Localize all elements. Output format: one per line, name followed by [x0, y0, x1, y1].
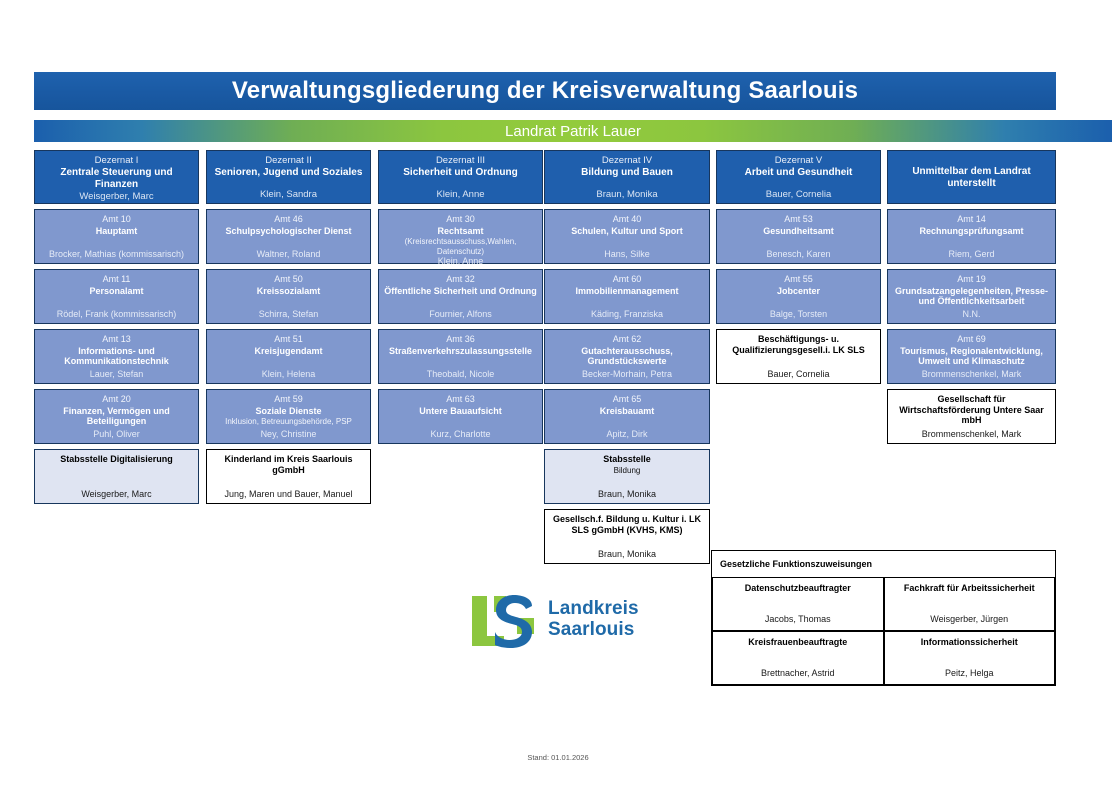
dezernat-title: Senioren, Jugend und Soziales: [210, 167, 367, 179]
dezernat-header-card[interactable]: Unmittelbar dem Landrat unterstellt: [887, 150, 1056, 204]
funktionszuweisung-person: Weisgerber, Jürgen: [930, 614, 1008, 624]
amt-title: Immobilienmanagement: [548, 286, 706, 297]
dezernat-header-card[interactable]: Dezernat IISenioren, Jugend und Soziales…: [206, 150, 371, 204]
org-chart-page: Verwaltungsgliederung der Kreisverwaltun…: [0, 0, 1116, 789]
amt-person: Apitz, Dirk: [548, 429, 706, 440]
logo-text-line2: Saarlouis: [548, 619, 639, 640]
amt-person: Fournier, Alfons: [382, 309, 539, 320]
dezernat-person: Weisgerber, Marc: [38, 191, 195, 202]
amt-title: Untere Bauaufsicht: [382, 406, 539, 417]
amt-number: Amt 50: [210, 274, 367, 285]
amt-number: Amt 11: [38, 274, 195, 285]
amt-card[interactable]: Amt 11PersonalamtRödel, Frank (kommissar…: [34, 269, 199, 324]
landrat-banner: Landrat Patrik Lauer: [34, 120, 1112, 142]
amt-person: Braun, Monika: [548, 549, 706, 560]
org-unit-card[interactable]: Gesellschaft für Wirtschaftsförderung Un…: [887, 389, 1056, 444]
dezernat-person: Braun, Monika: [548, 189, 706, 200]
org-unit-card[interactable]: StabsstelleBildungBraun, Monika: [544, 449, 710, 504]
dezernat-column-2: Dezernat IISenioren, Jugend und Soziales…: [206, 150, 371, 509]
amt-title: Schulen, Kultur und Sport: [548, 226, 706, 237]
dezernat-header-card[interactable]: Dezernat IZentrale Steuerung und Finanze…: [34, 150, 199, 204]
amt-number: Amt 69: [891, 334, 1052, 345]
dezernat-number: Dezernat II: [210, 155, 367, 166]
amt-person: Klein, Helena: [210, 369, 367, 380]
amt-card[interactable]: Amt 53GesundheitsamtBenesch, Karen: [716, 209, 881, 264]
amt-card[interactable]: Amt 55JobcenterBalge, Torsten: [716, 269, 881, 324]
amt-person: Schirra, Stefan: [210, 309, 367, 320]
logo-text-line1: Landkreis: [548, 598, 639, 619]
amt-number: Amt 10: [38, 214, 195, 225]
funktionszuweisung-role: Fachkraft für Arbeitssicherheit: [904, 583, 1035, 593]
amt-number: Amt 60: [548, 274, 706, 285]
amt-number: Amt 20: [38, 394, 195, 405]
funktionszuweisung-row: KreisfrauenbeauftragteBrettnacher, Astri…: [712, 631, 1055, 685]
dezernat-column-5: Dezernat VArbeit und GesundheitBauer, Co…: [716, 150, 881, 389]
dezernat-header-card[interactable]: Dezernat IVBildung und BauenBraun, Monik…: [544, 150, 710, 204]
amt-person: Käding, Franziska: [548, 309, 706, 320]
amt-card[interactable]: Amt 10HauptamtBrocker, Mathias (kommissa…: [34, 209, 199, 264]
amt-person: Jung, Maren und Bauer, Manuel: [210, 489, 367, 500]
amt-title: Soziale Dienste: [210, 406, 367, 417]
amt-person: Kurz, Charlotte: [382, 429, 539, 440]
amt-card[interactable]: Amt 14RechnungsprüfungsamtRiem, Gerd: [887, 209, 1056, 264]
dezernat-column-1: Dezernat IZentrale Steuerung und Finanze…: [34, 150, 199, 509]
amt-title: Hauptamt: [38, 226, 195, 237]
amt-title: Kinderland im Kreis Saarlouis gGmbH: [210, 454, 367, 475]
amt-person: Brocker, Mathias (kommissarisch): [38, 249, 195, 260]
page-title: Verwaltungsgliederung der Kreisverwaltun…: [34, 72, 1056, 110]
amt-card[interactable]: Amt 65KreisbauamtApitz, Dirk: [544, 389, 710, 444]
amt-card[interactable]: Amt 62Gutachterausschuss, Grundstückswer…: [544, 329, 710, 384]
amt-title: Kreisjugendamt: [210, 346, 367, 357]
dezernat-person: Klein, Anne: [382, 189, 539, 200]
dezernat-header-card[interactable]: Dezernat IIISicherheit und OrdnungKlein,…: [378, 150, 543, 204]
amt-person: Brommenschenkel, Mark: [891, 429, 1052, 440]
amt-person: Braun, Monika: [548, 489, 706, 500]
amt-number: Amt 62: [548, 334, 706, 345]
amt-person: Hans, Silke: [548, 249, 706, 260]
funktionszuweisungen-table: Gesetzliche Funktionszuweisungen Datensc…: [711, 550, 1056, 686]
dezernat-title: Sicherheit und Ordnung: [382, 167, 539, 179]
amt-number: Amt 30: [382, 214, 539, 225]
amt-card[interactable]: Amt 13Informations- und Kommunikationste…: [34, 329, 199, 384]
funktionszuweisung-person: Brettnacher, Astrid: [761, 668, 835, 678]
amt-card[interactable]: Amt 20Finanzen, Vermögen und Beteiligung…: [34, 389, 199, 444]
amt-person: Weisgerber, Marc: [38, 489, 195, 500]
amt-title: Personalamt: [38, 286, 195, 297]
amt-title: Rechtsamt: [382, 226, 539, 237]
amt-title: Gesundheitsamt: [720, 226, 877, 237]
dezernat-number: Dezernat IV: [548, 155, 706, 166]
amt-number: Amt 53: [720, 214, 877, 225]
amt-person: Brommenschenkel, Mark: [891, 369, 1052, 380]
amt-title: Gesellschaft für Wirtschaftsförderung Un…: [891, 394, 1052, 426]
amt-person: Bauer, Cornelia: [720, 369, 877, 380]
amt-number: Amt 63: [382, 394, 539, 405]
dezernat-header-card[interactable]: Dezernat VArbeit und GesundheitBauer, Co…: [716, 150, 881, 204]
funktionszuweisung-role: Informationssicherheit: [921, 637, 1018, 647]
dezernat-person: Bauer, Cornelia: [720, 189, 877, 200]
amt-person: Ney, Christine: [210, 429, 367, 440]
amt-person: Balge, Torsten: [720, 309, 877, 320]
amt-title: Beschäftigungs- u. Qualifizierungsgesell…: [720, 334, 877, 355]
dezernat-person: Klein, Sandra: [210, 189, 367, 200]
amt-number: Amt 59: [210, 394, 367, 405]
dezernat-column-6: Unmittelbar dem Landrat unterstelltAmt 1…: [887, 150, 1056, 449]
amt-person: Waltner, Roland: [210, 249, 367, 260]
amt-person: Theobald, Nicole: [382, 369, 539, 380]
dezernat-column-4: Dezernat IVBildung und BauenBraun, Monik…: [544, 150, 710, 569]
amt-card[interactable]: Amt 36StraßenverkehrszulassungsstelleThe…: [378, 329, 543, 384]
amt-person: Riem, Gerd: [891, 249, 1052, 260]
funktionszuweisungen-title: Gesetzliche Funktionszuweisungen: [712, 551, 1055, 577]
amt-number: Amt 36: [382, 334, 539, 345]
amt-card[interactable]: Amt 40Schulen, Kultur und SportHans, Sil…: [544, 209, 710, 264]
funktionszuweisung-cell[interactable]: InformationssicherheitPeitz, Helga: [884, 631, 1056, 685]
dezernat-number: Dezernat V: [720, 155, 877, 166]
funktionszuweisung-cell[interactable]: Fachkraft für ArbeitssicherheitWeisgerbe…: [884, 577, 1056, 631]
amt-title: Gutachterausschuss, Grundstückswerte: [548, 346, 706, 367]
amt-title: Informations- und Kommunikationstechnik: [38, 346, 195, 367]
org-unit-card[interactable]: Stabsstelle DigitalisierungWeisgerber, M…: [34, 449, 199, 504]
dezernat-title: Bildung und Bauen: [548, 167, 706, 179]
amt-person: Rödel, Frank (kommissarisch): [38, 309, 195, 320]
org-unit-card[interactable]: Beschäftigungs- u. Qualifizierungsgesell…: [716, 329, 881, 384]
amt-card[interactable]: Amt 51KreisjugendamtKlein, Helena: [206, 329, 371, 384]
amt-number: Amt 51: [210, 334, 367, 345]
amt-card[interactable]: Amt 63Untere BauaufsichtKurz, Charlotte: [378, 389, 543, 444]
amt-subtitle: Bildung: [548, 466, 706, 475]
landkreis-saarlouis-logo: Landkreis Saarlouis: [470, 592, 640, 654]
amt-card[interactable]: Amt 50KreissozialamtSchirra, Stefan: [206, 269, 371, 324]
amt-number: Amt 65: [548, 394, 706, 405]
amt-card[interactable]: Amt 19Grundsatzangelegenheiten, Presse- …: [887, 269, 1056, 324]
amt-title: Tourismus, Regionalentwicklung, Umwelt u…: [891, 346, 1052, 367]
amt-person: Becker-Morhain, Petra: [548, 369, 706, 380]
amt-person: Lauer, Stefan: [38, 369, 195, 380]
amt-title: Grundsatzangelegenheiten, Presse- und Öf…: [891, 286, 1052, 307]
funktionszuweisung-person: Peitz, Helga: [945, 668, 994, 678]
funktionszuweisung-cell[interactable]: KreisfrauenbeauftragteBrettnacher, Astri…: [712, 631, 884, 685]
dezernat-number: Dezernat III: [382, 155, 539, 166]
amt-title: Schulpsychologischer Dienst: [210, 226, 367, 237]
dezernat-column-3: Dezernat IIISicherheit und OrdnungKlein,…: [378, 150, 543, 449]
stand-date: Stand: 01.01.2026: [0, 753, 1116, 762]
funktionszuweisung-role: Datenschutzbeauftragter: [745, 583, 851, 593]
amt-title: Gesellsch.f. Bildung u. Kultur i. LK SLS…: [548, 514, 706, 535]
amt-title: Kreisbauamt: [548, 406, 706, 417]
amt-card[interactable]: Amt 30Rechtsamt(Kreisrechtsausschuss,Wah…: [378, 209, 543, 264]
amt-person: Benesch, Karen: [720, 249, 877, 260]
dezernat-title: Zentrale Steuerung und Finanzen: [38, 167, 195, 191]
amt-person: Puhl, Oliver: [38, 429, 195, 440]
amt-number: Amt 14: [891, 214, 1052, 225]
amt-card[interactable]: Amt 32Öffentliche Sicherheit und Ordnung…: [378, 269, 543, 324]
funktionszuweisung-row: DatenschutzbeauftragterJacobs, ThomasFac…: [712, 577, 1055, 631]
amt-number: Amt 40: [548, 214, 706, 225]
amt-title: Stabsstelle Digitalisierung: [38, 454, 195, 465]
dezernat-title: Arbeit und Gesundheit: [720, 167, 877, 179]
amt-card[interactable]: Amt 46Schulpsychologischer DienstWaltner…: [206, 209, 371, 264]
amt-subtitle: (Kreisrechtsausschuss,Wahlen, Datenschut…: [382, 237, 539, 256]
amt-person: Klein, Anne: [382, 256, 539, 267]
amt-subtitle: Inklusion, Betreuungsbehörde, PSP: [210, 417, 367, 426]
funktionszuweisung-person: Jacobs, Thomas: [765, 614, 831, 624]
amt-title: Rechnungsprüfungsamt: [891, 226, 1052, 237]
org-unit-card[interactable]: Gesellsch.f. Bildung u. Kultur i. LK SLS…: [544, 509, 710, 564]
amt-number: Amt 46: [210, 214, 367, 225]
logo-mark-icon: [470, 592, 542, 650]
dezernat-title: Unmittelbar dem Landrat unterstellt: [891, 166, 1052, 190]
amt-number: Amt 32: [382, 274, 539, 285]
amt-card[interactable]: Amt 59Soziale DiensteInklusion, Betreuun…: [206, 389, 371, 444]
amt-title: Öffentliche Sicherheit und Ordnung: [382, 286, 539, 297]
amt-title: Kreissozialamt: [210, 286, 367, 297]
dezernat-number: Dezernat I: [38, 155, 195, 166]
amt-person: N.N.: [891, 309, 1052, 320]
logo-text: Landkreis Saarlouis: [548, 598, 639, 641]
funktionszuweisung-role: Kreisfrauenbeauftragte: [748, 637, 847, 647]
amt-number: Amt 13: [38, 334, 195, 345]
funktionszuweisungen-rows: DatenschutzbeauftragterJacobs, ThomasFac…: [712, 577, 1055, 685]
amt-number: Amt 19: [891, 274, 1052, 285]
funktionszuweisung-cell[interactable]: DatenschutzbeauftragterJacobs, Thomas: [712, 577, 884, 631]
amt-title: Straßenverkehrszulassungsstelle: [382, 346, 539, 357]
amt-title: Finanzen, Vermögen und Beteiligungen: [38, 406, 195, 427]
org-unit-card[interactable]: Kinderland im Kreis Saarlouis gGmbHJung,…: [206, 449, 371, 504]
amt-card[interactable]: Amt 60ImmobilienmanagementKäding, Franzi…: [544, 269, 710, 324]
amt-card[interactable]: Amt 69Tourismus, Regionalentwicklung, Um…: [887, 329, 1056, 384]
amt-title: Stabsstelle: [548, 454, 706, 465]
amt-title: Jobcenter: [720, 286, 877, 297]
amt-number: Amt 55: [720, 274, 877, 285]
